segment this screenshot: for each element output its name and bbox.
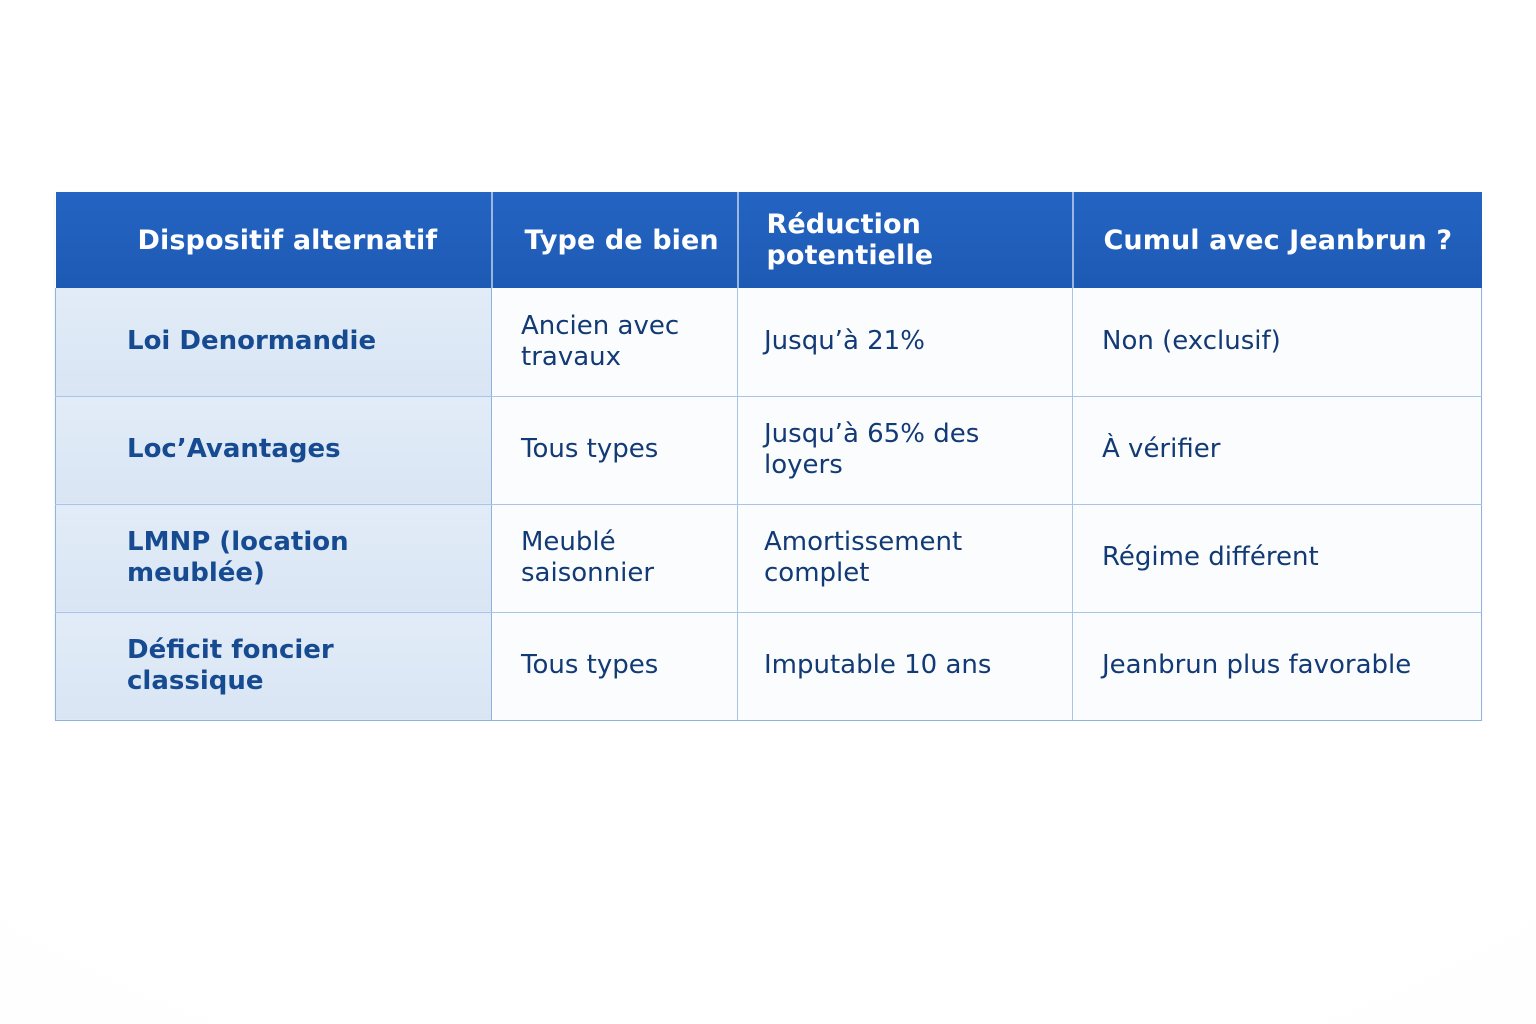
cell-reduction: Jusqu’à 21% [738, 288, 1073, 396]
page-canvas: Dispositif alternatif Type de bien Réduc… [0, 0, 1536, 1024]
column-header-cumul-avec-jeanbrun: Cumul avec Jeanbrun ? [1073, 192, 1482, 288]
cell-text: Meublé saisonnier [493, 527, 736, 589]
header-row: Dispositif alternatif Type de bien Réduc… [56, 192, 1482, 288]
cell-cumul: Régime différent [1073, 504, 1482, 612]
table-header: Dispositif alternatif Type de bien Réduc… [56, 192, 1482, 288]
table-row: Loi Denormandie Ancien avec travaux Jusq… [56, 288, 1482, 396]
cell-reduction: Imputable 10 ans [738, 612, 1073, 720]
cell-text: Jusqu’à 65% des loyers [739, 419, 1071, 481]
cell-cumul: Jeanbrun plus favorable [1073, 612, 1482, 720]
cell-cumul: Non (exclusif) [1073, 288, 1482, 396]
cell-text: Loc’Avantages [57, 434, 490, 465]
table-row: Déficit foncier classique Tous types Imp… [56, 612, 1482, 720]
cell-text: Imputable 10 ans [739, 650, 1071, 681]
column-header-label: Réduction potentielle [739, 209, 1072, 271]
cell-text: Tous types [493, 650, 736, 681]
cell-dispositif: Loi Denormandie [56, 288, 492, 396]
column-header-type-de-bien: Type de bien [492, 192, 738, 288]
cell-reduction: Jusqu’à 65% des loyers [738, 396, 1073, 504]
cell-text: LMNP (location meublée) [57, 527, 490, 589]
cell-text: Amortissement complet [739, 527, 1071, 589]
cell-dispositif: LMNP (location meublée) [56, 504, 492, 612]
table-row: LMNP (location meublée) Meublé saisonnie… [56, 504, 1482, 612]
column-header-label: Type de bien [493, 225, 737, 256]
cell-text: Déficit foncier classique [57, 635, 490, 697]
cell-text: Non (exclusif) [1074, 326, 1480, 357]
column-header-dispositif-alternatif: Dispositif alternatif [56, 192, 492, 288]
comparison-table: Dispositif alternatif Type de bien Réduc… [55, 192, 1482, 721]
cell-type-de-bien: Ancien avec travaux [492, 288, 738, 396]
cell-text: Jeanbrun plus favorable [1074, 650, 1480, 681]
cell-dispositif: Loc’Avantages [56, 396, 492, 504]
cell-dispositif: Déficit foncier classique [56, 612, 492, 720]
cell-text: Ancien avec travaux [493, 311, 736, 373]
cell-text: Tous types [493, 434, 736, 465]
cell-text: Jusqu’à 21% [739, 326, 1071, 357]
column-header-reduction-potentielle: Réduction potentielle [738, 192, 1073, 288]
cell-text: Loi Denormandie [57, 326, 490, 357]
cell-text: À vérifier [1074, 434, 1480, 465]
column-header-label: Cumul avec Jeanbrun ? [1074, 225, 1482, 256]
cell-type-de-bien: Tous types [492, 612, 738, 720]
table-body: Loi Denormandie Ancien avec travaux Jusq… [56, 288, 1482, 720]
table-row: Loc’Avantages Tous types Jusqu’à 65% des… [56, 396, 1482, 504]
cell-reduction: Amortissement complet [738, 504, 1073, 612]
comparison-table-container: Dispositif alternatif Type de bien Réduc… [55, 192, 1481, 719]
cell-type-de-bien: Meublé saisonnier [492, 504, 738, 612]
cell-type-de-bien: Tous types [492, 396, 738, 504]
cell-cumul: À vérifier [1073, 396, 1482, 504]
column-header-label: Dispositif alternatif [56, 225, 491, 256]
cell-text: Régime différent [1074, 542, 1480, 573]
